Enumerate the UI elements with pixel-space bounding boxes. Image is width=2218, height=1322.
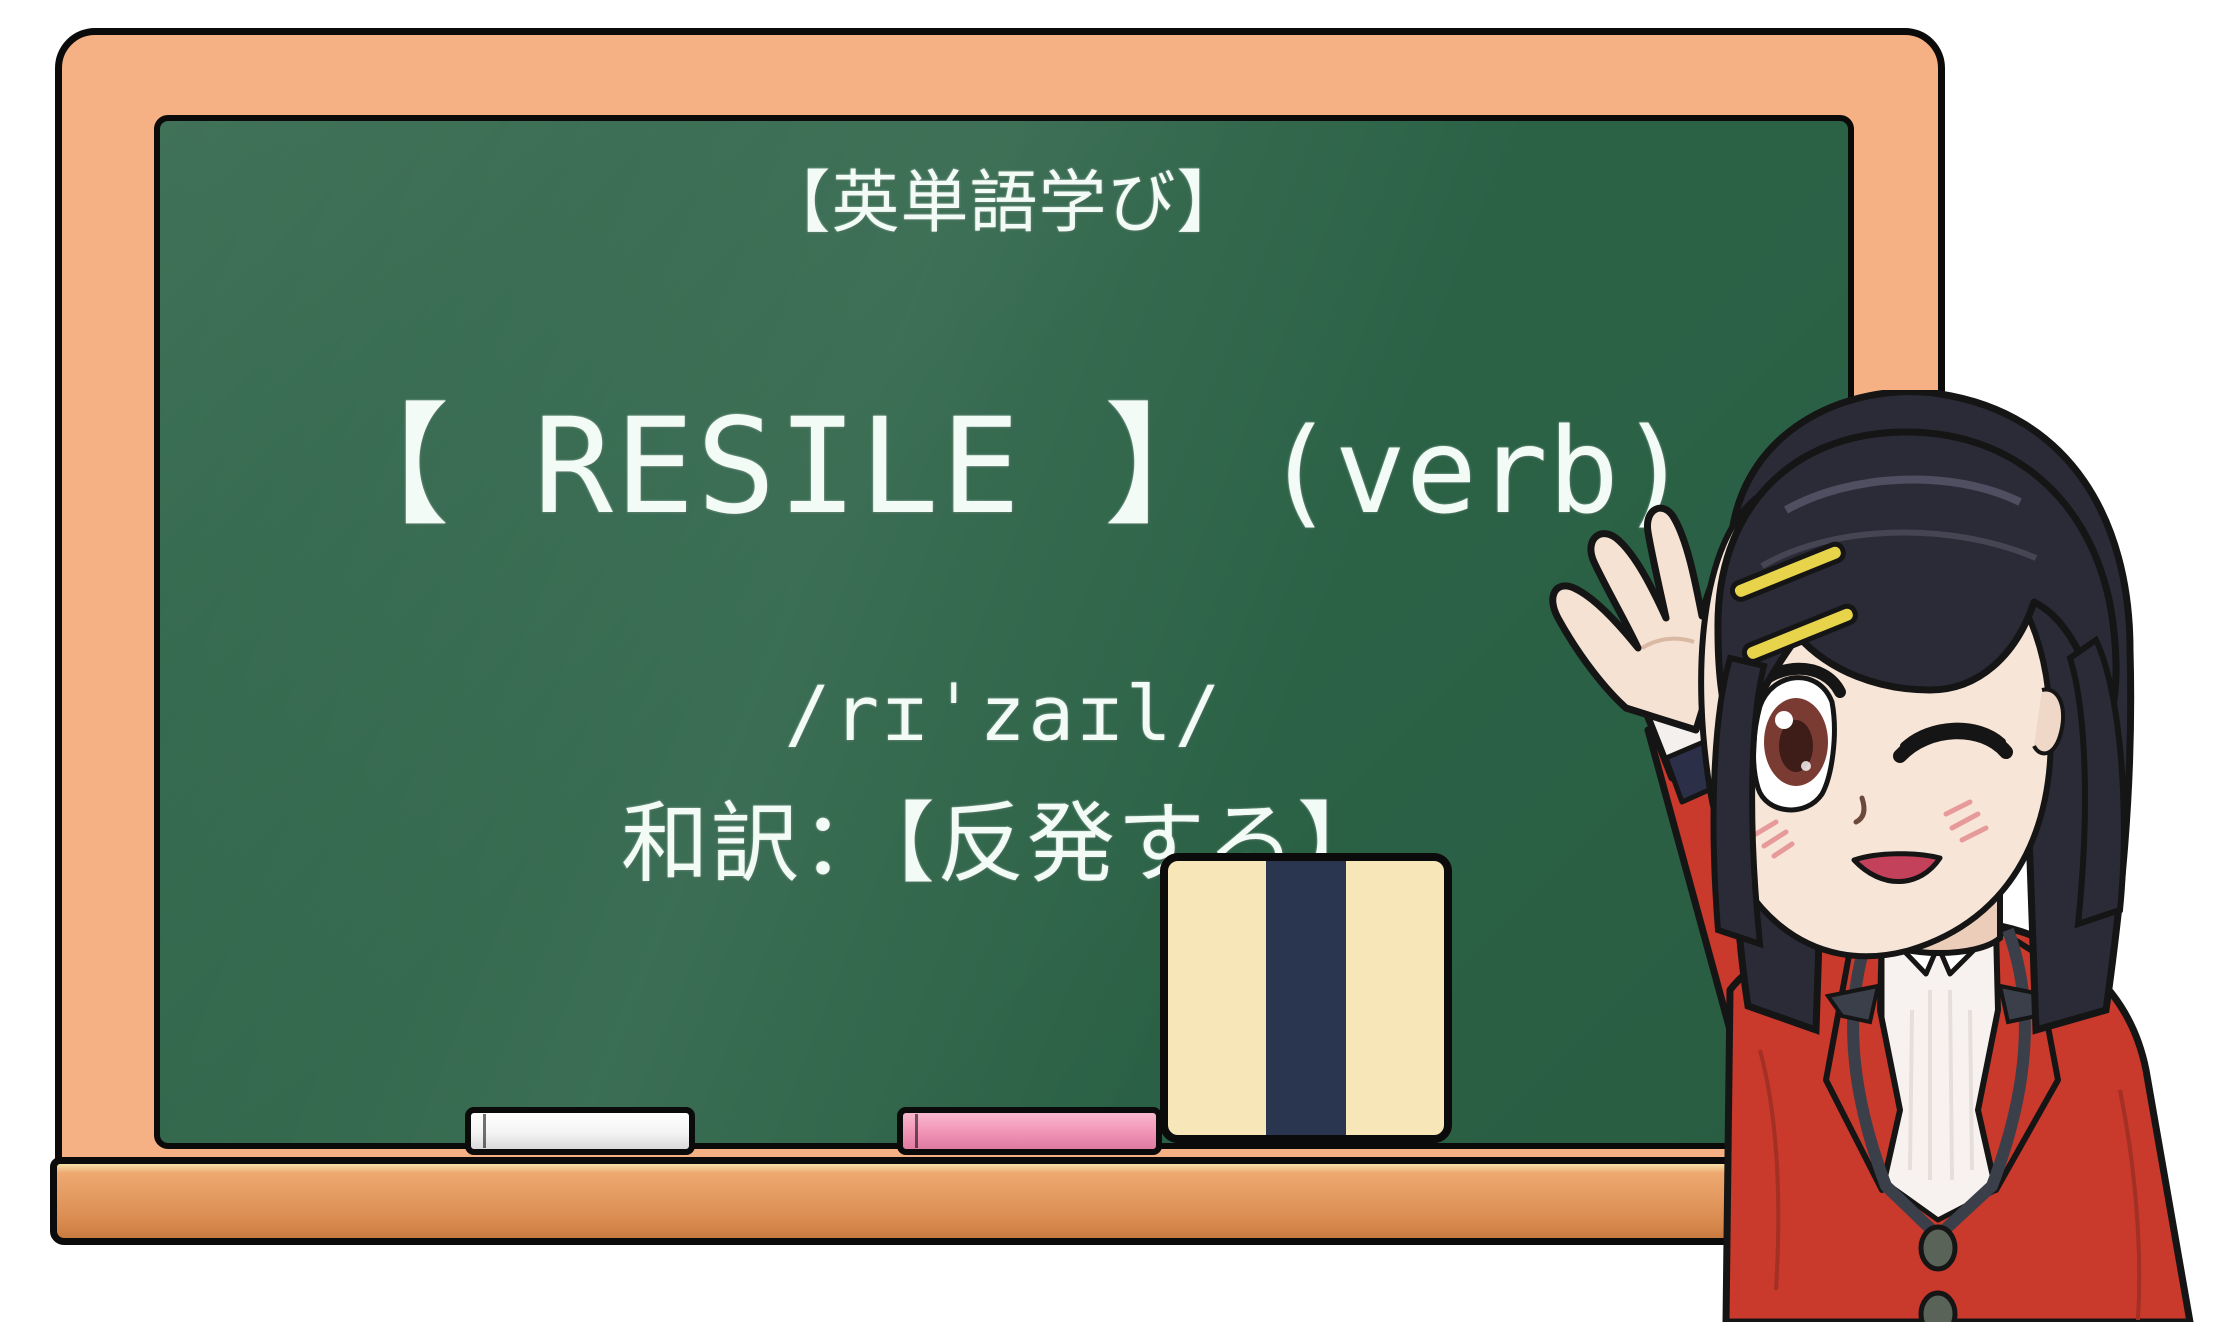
pink-chalk-end bbox=[905, 1114, 918, 1148]
headword-text: 【 RESILE 】 bbox=[318, 401, 1238, 533]
anime-teacher-character bbox=[1430, 390, 2218, 1322]
blackboard-eraser[interactable] bbox=[1160, 853, 1452, 1143]
eraser-band bbox=[1266, 861, 1346, 1135]
lesson-title: 【英単語学び】 bbox=[160, 167, 1848, 242]
pink-chalk[interactable] bbox=[897, 1107, 1162, 1155]
white-chalk[interactable] bbox=[465, 1107, 695, 1155]
white-chalk-end bbox=[473, 1114, 486, 1148]
